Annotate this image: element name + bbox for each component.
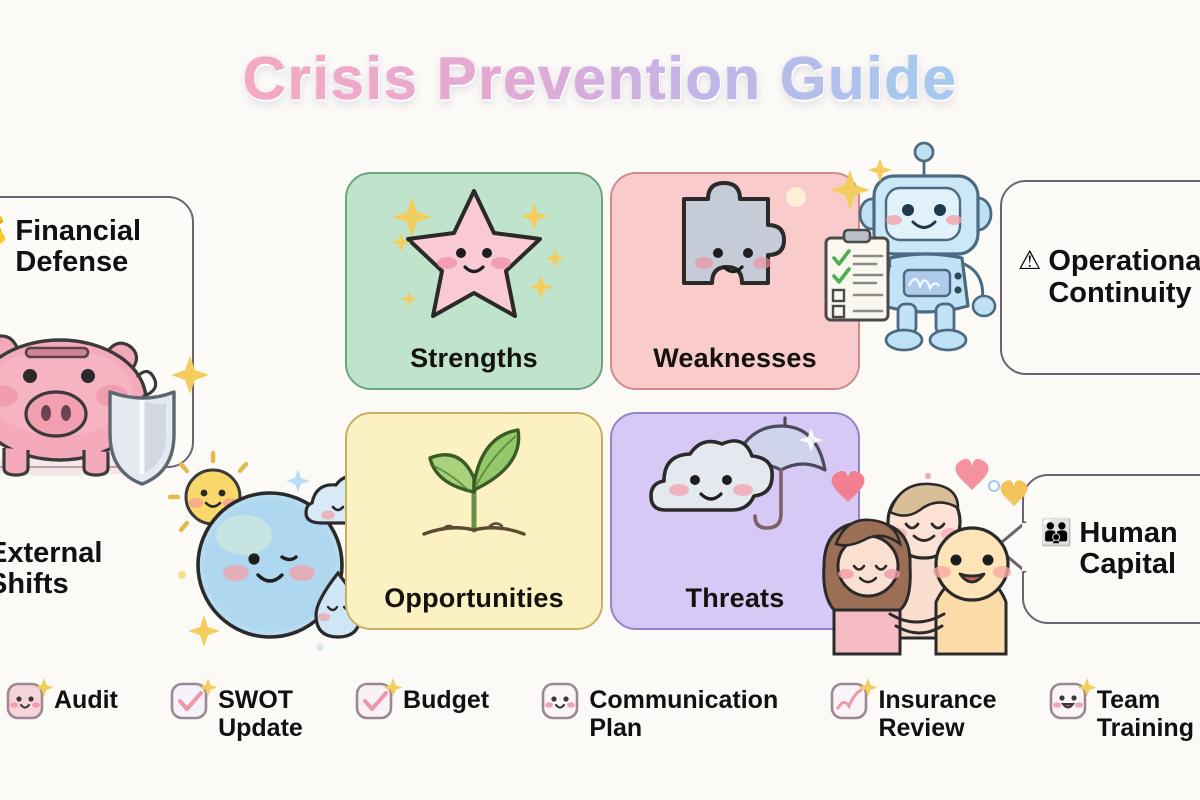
checklist-item-audit[interactable]: Audit — [6, 676, 118, 722]
smiling-face-tile-icon[interactable] — [541, 676, 583, 722]
callout-human-capital[interactable]: 👪 Human Capital — [1022, 474, 1200, 624]
sprout-icon — [347, 414, 601, 566]
three-people-hug-illustration — [818, 468, 1028, 664]
checklist-item-insurance-review[interactable]: Insurance Review — [830, 676, 996, 742]
quadrant-weaknesses[interactable]: Weaknesses — [610, 172, 860, 390]
callout-external-shifts-label: External Shifts — [0, 538, 102, 601]
sparkle-icon — [529, 275, 553, 299]
quadrant-opportunities-label: Opportunities — [384, 583, 564, 614]
checklist-item-team-training[interactable]: Team Training — [1049, 676, 1194, 742]
sparkle-icon — [401, 291, 417, 307]
chart-line-tile-icon[interactable] — [830, 676, 872, 722]
sparkle-icon — [521, 203, 548, 230]
smiling-face-tile-icon[interactable] — [6, 676, 48, 722]
callout-external-shifts[interactable]: 🌧 External Shifts — [0, 516, 180, 622]
sparkle-icon — [546, 249, 565, 268]
checklist-item-budget-label: Budget — [403, 676, 489, 714]
callout-financial-defense-label: Financial Defense — [15, 216, 141, 279]
sparkle-icon — [392, 233, 411, 252]
quadrant-opportunities[interactable]: Opportunities — [345, 412, 603, 630]
warning-triangle-icon: ⚠ — [1018, 246, 1041, 276]
checklist-item-swot-update[interactable]: SWOT Update — [170, 676, 303, 742]
checklist-item-communication-plan[interactable]: Communication Plan — [541, 676, 778, 742]
clipboard-checklist-icon — [826, 230, 888, 320]
piggy-bank-shield-illustration — [0, 300, 202, 480]
page-title: Crisis Prevention Guide — [0, 44, 1200, 113]
checklist-item-swot-update-label: SWOT Update — [218, 676, 303, 742]
sparkle-icon — [171, 356, 209, 394]
checklist-item-budget[interactable]: Budget — [355, 676, 489, 722]
checkbox-checked-icon[interactable] — [355, 676, 397, 722]
callout-human-capital-label: Human Capital — [1079, 518, 1177, 581]
checklist-item-communication-plan-label: Communication Plan — [589, 676, 778, 742]
checklist-item-audit-label: Audit — [54, 676, 118, 714]
sparkle-icon — [188, 615, 220, 647]
heart-icon — [1000, 480, 1027, 506]
callout-operational-continuity-label: Operational Continuity — [1048, 246, 1200, 309]
money-bag-icon: 💰 — [0, 216, 8, 246]
quadrant-weaknesses-label: Weaknesses — [653, 343, 817, 374]
checklist-item-insurance-review-label: Insurance Review — [878, 676, 996, 742]
checklist-item-team-training-label: Team Training — [1097, 676, 1194, 742]
quadrant-threats-label: Threats — [686, 583, 785, 614]
heart-icon — [955, 459, 988, 490]
people-group-icon: 👪 — [1040, 518, 1072, 548]
checkbox-checked-icon[interactable] — [170, 676, 212, 722]
poster-canvas: Crisis Prevention Guide 💰 Financial Defe… — [0, 0, 1200, 800]
callout-operational-continuity[interactable]: ⚠ Operational Continuity — [1000, 180, 1200, 375]
star-character-icon — [347, 174, 601, 326]
open-mouth-face-tile-icon[interactable] — [1049, 676, 1091, 722]
quadrant-strengths-label: Strengths — [410, 343, 538, 374]
heart-icon — [831, 471, 864, 502]
puzzle-piece-character-icon — [612, 174, 858, 326]
quadrant-strengths[interactable]: Strengths — [345, 172, 603, 390]
sparkle-icon — [392, 197, 432, 237]
checklist-row: Audit SWOT Update Budget — [0, 676, 1200, 768]
sparkle-icon — [286, 469, 310, 493]
robot-clipboard-illustration — [828, 142, 1018, 360]
